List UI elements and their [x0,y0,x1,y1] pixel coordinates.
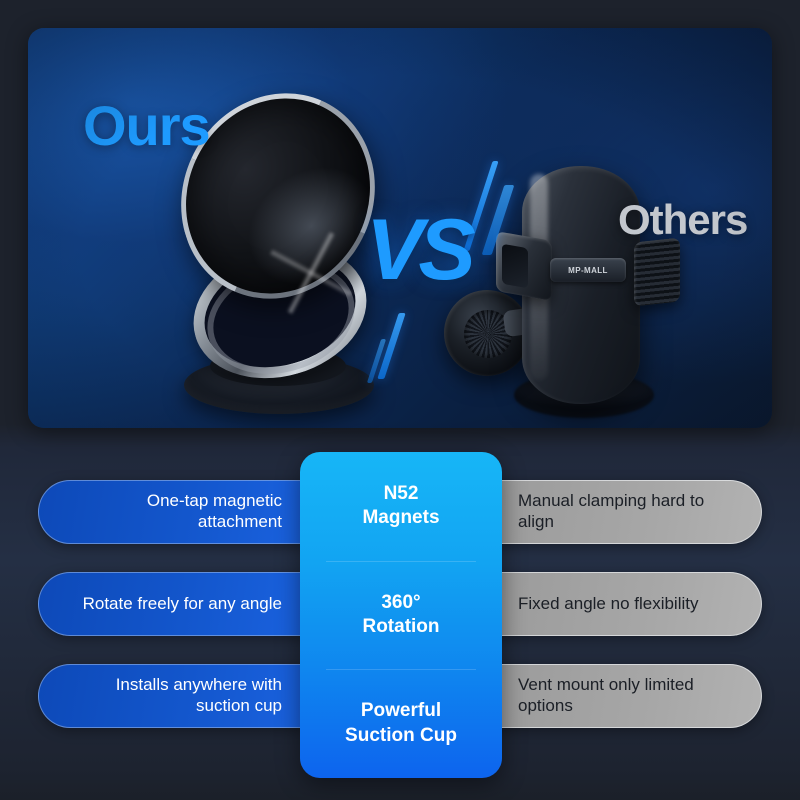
versus-label: VS [366,201,471,300]
center-feature-2-line1: 360° [381,592,420,613]
versus-badge: VS [358,163,548,363]
comparison-table: One-tap magnetic attachment Manual clamp… [0,452,800,782]
center-feature-3-line1: Powerful [361,700,441,721]
ours-headline: Ours [83,93,210,158]
others-feature-3: Vent mount only limited options [494,664,762,728]
ours-feature-1: One-tap magnetic attachment [38,480,306,544]
center-feature-2: 360° Rotation [300,561,502,670]
center-feature-2-text: 360° Rotation [362,591,439,640]
center-feature-1-line2: Magnets [362,507,439,528]
brand-badge: MP-MALL [550,258,626,282]
hero-product-panel: MP-MALL VS Ours Others [28,28,772,428]
ours-feature-3: Installs anywhere with suction cup [38,664,306,728]
center-feature-1-text: N52 Magnets [362,482,439,531]
others-feature-1: Manual clamping hard to align [494,480,762,544]
center-feature-2-line2: Rotation [362,616,439,637]
center-feature-3-text: Powerful Suction Cup [345,699,457,748]
center-highlight-card: N52 Magnets 360° Rotation Powerful Sucti… [300,452,502,778]
center-feature-3-line2: Suction Cup [345,725,457,746]
comparison-infographic: MP-MALL VS Ours Others One-tap magnetic … [0,0,800,800]
others-feature-2: Fixed angle no flexibility [494,572,762,636]
brand-badge-label: MP-MALL [568,266,608,275]
ours-feature-2: Rotate freely for any angle [38,572,306,636]
center-feature-1-line1: N52 [384,483,419,504]
others-headline: Others [618,196,747,244]
vent-mount-right-arm [634,238,680,307]
center-feature-1: N52 Magnets [300,452,502,561]
center-feature-3: Powerful Suction Cup [300,669,502,778]
